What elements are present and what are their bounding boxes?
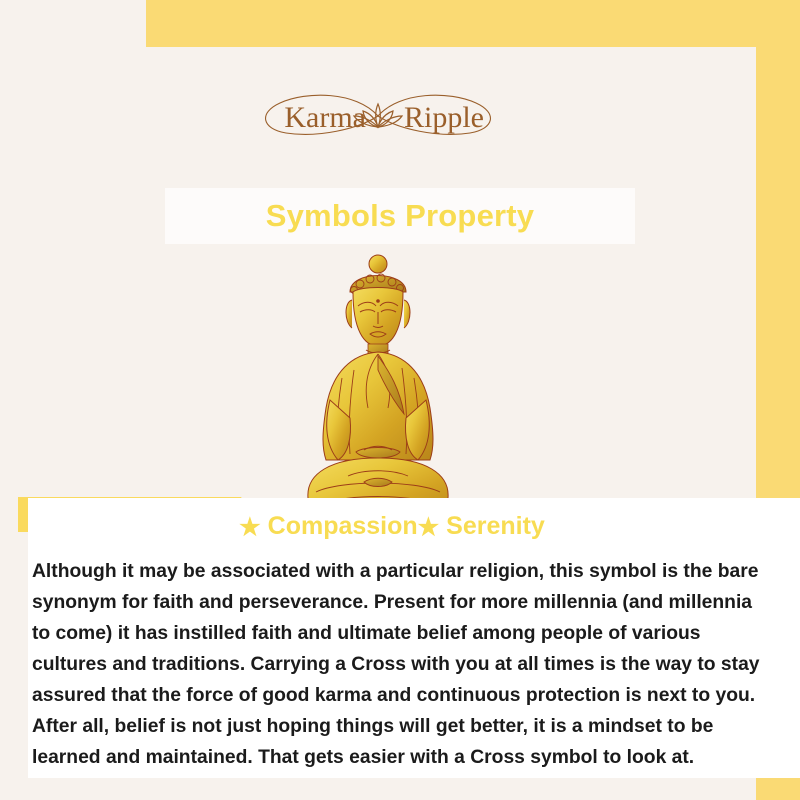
description-paragraph: Although it may be associated with a par…	[32, 556, 772, 773]
keywords-row: ★ Compassion★ Serenity	[28, 512, 756, 542]
hero-image	[0, 243, 756, 533]
decor-top-bar	[146, 0, 800, 47]
brand-name-right: Ripple	[404, 101, 484, 134]
content-panel: ★ Compassion★ Serenity Although it may b…	[28, 498, 800, 778]
poster-page: Karma Ripple Symbols Property	[0, 0, 800, 800]
seated-buddha-statue	[278, 248, 478, 533]
title-band: Symbols Property	[165, 188, 635, 244]
brand-name-left: Karma	[284, 101, 366, 134]
star-icon-second: ★	[418, 514, 440, 541]
keyword-first: Compassion	[268, 512, 418, 540]
brand-logo: Karma Ripple	[0, 85, 756, 147]
keyword-second: Serenity	[446, 512, 545, 540]
star-icon-first: ★	[239, 514, 261, 541]
lotus-infinity-icon: Karma Ripple	[228, 85, 528, 147]
page-title: Symbols Property	[266, 198, 535, 234]
